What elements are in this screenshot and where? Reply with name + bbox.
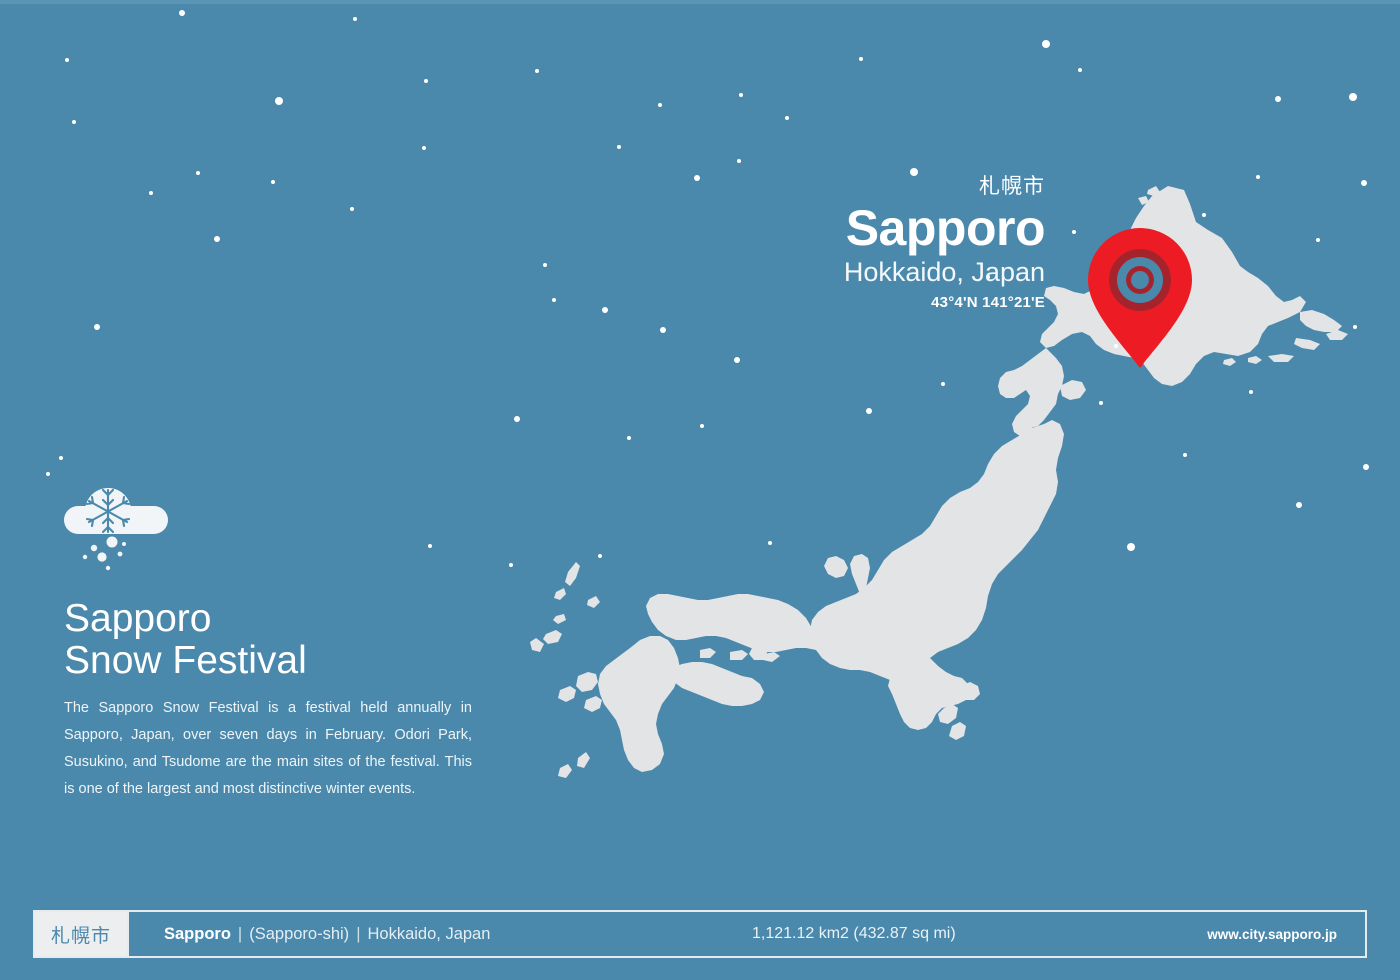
footer-kanji-badge: 札幌市 — [35, 912, 127, 956]
city-label-block: 札幌市 Sapporo Hokkaido, Japan 43°4'N 141°2… — [844, 176, 1045, 310]
city-kanji: 札幌市 — [844, 176, 1045, 197]
map-pin-core — [1131, 271, 1149, 289]
footer-url[interactable]: www.city.sapporo.jp — [1207, 927, 1337, 942]
snow-cloud-icon — [64, 470, 174, 575]
footer-content: Sapporo|(Sapporo-shi)|Hokkaido, Japan 1,… — [129, 912, 1365, 956]
footer-area: 1,121.12 km2 (432.87 sq mi) — [752, 925, 956, 943]
festival-title-line2: Snow Festival — [64, 639, 307, 682]
footer-separator-2: | — [356, 925, 360, 943]
city-name: Sapporo — [844, 203, 1045, 253]
festival-title: Sapporo Snow Festival — [64, 598, 474, 681]
festival-description: The Sapporo Snow Festival is a festival … — [64, 695, 472, 802]
footer-name-group: Sapporo|(Sapporo-shi)|Hokkaido, Japan — [164, 925, 490, 944]
footer-bar: 札幌市 Sapporo|(Sapporo-shi)|Hokkaido, Japa… — [33, 910, 1367, 958]
info-panel: Sapporo Snow Festival The Sapporo Snow F… — [64, 470, 474, 803]
festival-title-line1: Sapporo — [64, 597, 211, 640]
footer-separator-1: | — [238, 925, 242, 943]
poster-canvas: 札幌市 Sapporo Hokkaido, Japan 43°4'N 141°2… — [0, 0, 1400, 980]
footer-romanized: (Sapporo-shi) — [249, 925, 349, 943]
footer-region: Hokkaido, Japan — [367, 925, 490, 943]
city-coordinates: 43°4'N 141°21'E — [844, 295, 1045, 310]
city-region: Hokkaido, Japan — [844, 259, 1045, 286]
footer-city: Sapporo — [164, 925, 231, 943]
